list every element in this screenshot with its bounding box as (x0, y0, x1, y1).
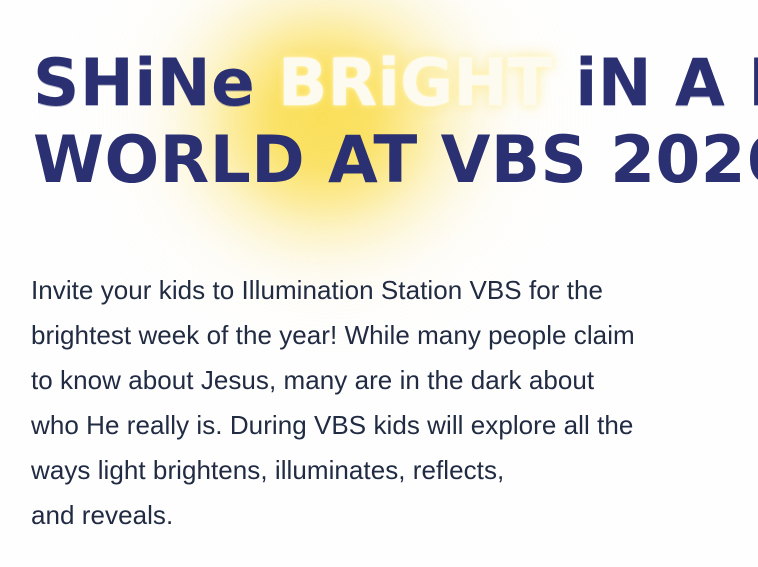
promo-page: SHiNe BRiGHT iN A DARK WORLD AT VBS 2026… (0, 0, 758, 567)
body-line: brightest week of the year! While many p… (31, 313, 731, 358)
body-line: Invite your kids to Illumination Station… (31, 268, 731, 313)
body-paragraph: Invite your kids to Illumination Station… (31, 268, 731, 538)
headline-segment-shine: SHiNe (33, 46, 278, 121)
headline-line-1: SHiNe BRiGHT iN A DARK (33, 52, 736, 115)
body-line: and reveals. (31, 493, 731, 538)
body-line: to know about Jesus, many are in the dar… (31, 358, 731, 403)
headline-line-2: WORLD AT VBS 2026 (33, 129, 736, 192)
page-title: SHiNe BRiGHT iN A DARK WORLD AT VBS 2026 (33, 52, 743, 192)
body-line: who He really is. During VBS kids will e… (31, 403, 731, 448)
headline-segment-bright: BRiGHT (278, 46, 552, 121)
body-line: ways light brightens, illuminates, refle… (31, 448, 731, 493)
headline-segment-in-a-dark: iN A DARK (552, 46, 758, 121)
